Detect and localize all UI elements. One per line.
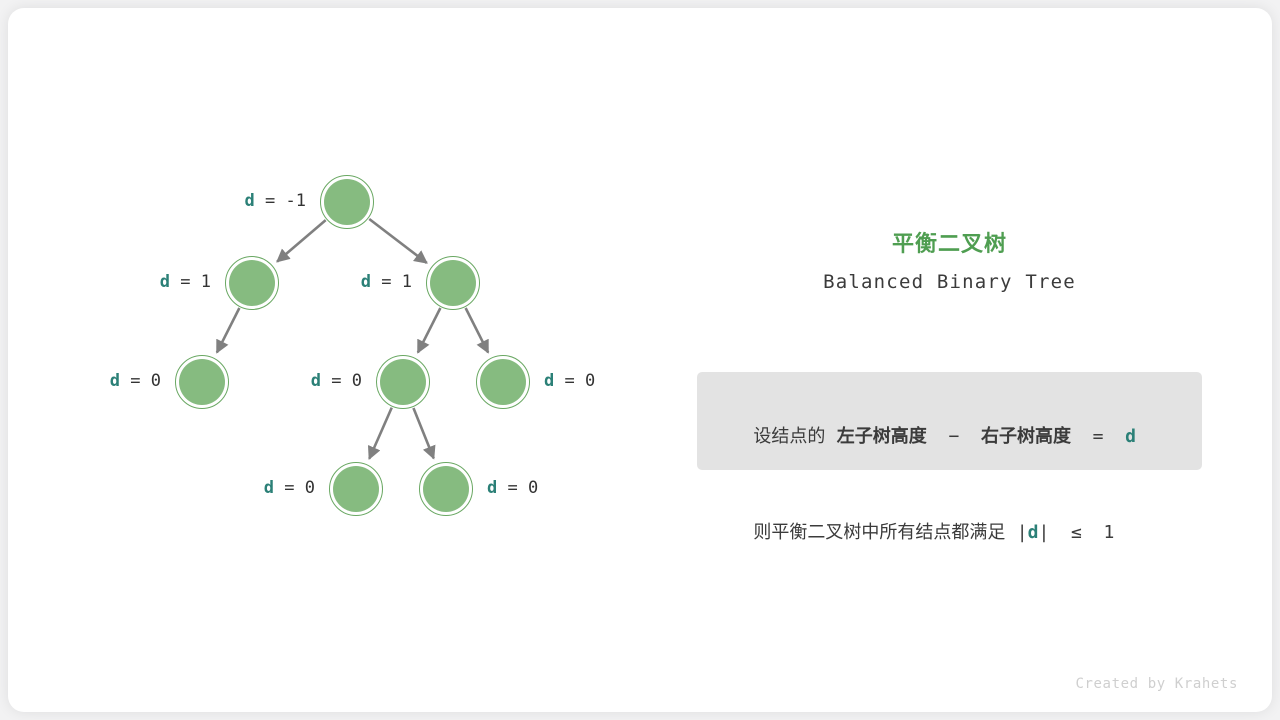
tree-node-n6: [476, 355, 530, 409]
credit-text: Created by Krahets: [1075, 676, 1238, 692]
node-disc: [333, 466, 379, 512]
diagram-canvas: d = -1d = 1d = 1d = 0d = 0d = 0d = 0d = …: [0, 0, 1280, 720]
node-label-n8: d = 0: [487, 480, 538, 497]
definition-prefix: 设结点的: [753, 426, 836, 447]
d-symbol: d: [1125, 426, 1136, 447]
node-disc: [179, 359, 225, 405]
panel-subtitle: Balanced Binary Tree: [697, 271, 1202, 293]
node-label-n3: d = 1: [361, 274, 412, 291]
tree-node-n4: [175, 355, 229, 409]
definition-line-1: 设结点的 左子树高度 − 右子树高度 = d: [719, 389, 1180, 485]
node-disc: [324, 179, 370, 225]
d-symbol-abs: d: [1028, 522, 1039, 543]
node-label-n4: d = 0: [110, 373, 161, 390]
node-label-n6: d = 0: [544, 373, 595, 390]
tree-node-n5: [376, 355, 430, 409]
abs-bar-open: |: [1017, 522, 1028, 543]
definition-line-2: 则平衡二叉树中所有结点都满足 |d| ≤ 1: [719, 485, 1180, 581]
node-disc: [480, 359, 526, 405]
tree-node-root: [320, 175, 374, 229]
node-label-n2: d = 1: [160, 274, 211, 291]
definition-box: 设结点的 左子树高度 − 右子树高度 = d 则平衡二叉树中所有结点都满足 |d…: [697, 372, 1202, 470]
node-disc: [380, 359, 426, 405]
tree-node-n3: [426, 256, 480, 310]
panel-title: 平衡二叉树: [697, 226, 1202, 258]
info-panel: 平衡二叉树 Balanced Binary Tree: [697, 226, 1202, 293]
relation-expression: ≤ 1: [1049, 522, 1114, 543]
minus-operator: −: [927, 426, 981, 447]
node-disc: [229, 260, 275, 306]
node-disc: [423, 466, 469, 512]
node-label-n5: d = 0: [311, 373, 362, 390]
condition-prefix: 则平衡二叉树中所有结点都满足: [753, 522, 1016, 543]
tree-node-n7: [329, 462, 383, 516]
left-subtree-height-term: 左子树高度: [837, 426, 927, 447]
node-disc: [430, 260, 476, 306]
node-label-root: d = -1: [245, 193, 306, 210]
tree-node-n8: [419, 462, 473, 516]
tree-node-n2: [225, 256, 279, 310]
equals-operator: =: [1071, 426, 1125, 447]
abs-bar-close: |: [1038, 522, 1049, 543]
node-label-n7: d = 0: [264, 480, 315, 497]
right-subtree-height-term: 右子树高度: [981, 426, 1071, 447]
